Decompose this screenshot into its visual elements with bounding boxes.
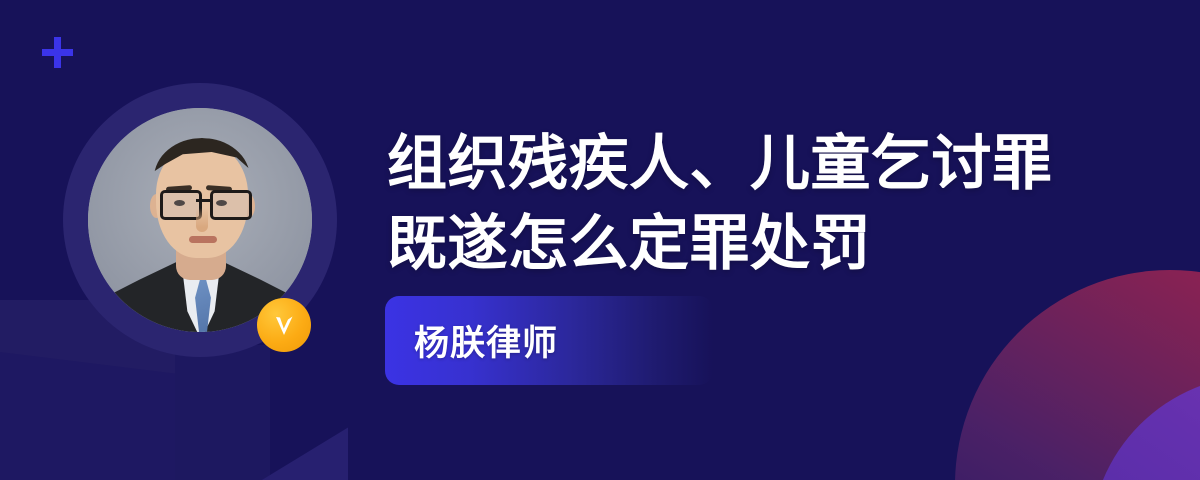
- background-polygon-column: [175, 345, 270, 480]
- lawyer-name-badge[interactable]: 杨朕律师: [385, 296, 713, 385]
- page-title: 组织残疾人、儿童乞讨罪既遂怎么定罪处罚: [387, 124, 1087, 284]
- plus-icon: [42, 37, 73, 68]
- verified-v-badge-icon: [257, 298, 311, 352]
- lawyer-topic-banner: 组织残疾人、儿童乞讨罪既遂怎么定罪处罚 杨朕律师: [0, 0, 1200, 480]
- lawyer-name-label: 杨朕律师: [385, 315, 558, 366]
